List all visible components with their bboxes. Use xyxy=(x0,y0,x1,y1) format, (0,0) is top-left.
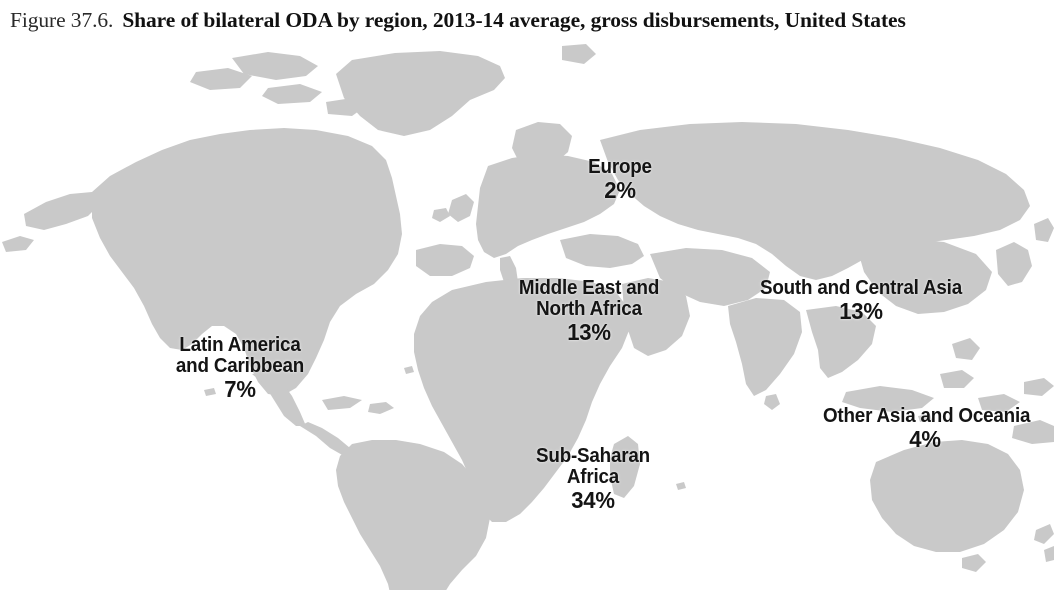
figure-number: Figure 37.6. xyxy=(10,8,113,32)
region-value-latin-america-caribbean: 7% xyxy=(125,378,355,402)
region-name-other-asia-oceania: Other Asia and Oceania xyxy=(823,406,1054,427)
region-label-sub-saharan-africa: Sub-Saharan Africa 34% xyxy=(468,446,718,513)
figure-container: Figure 37.6.Share of bilateral ODA by re… xyxy=(0,0,1054,590)
region-value-other-asia-oceania: 4% xyxy=(818,428,1031,452)
region-value-middle-east-north-africa: 13% xyxy=(459,321,718,345)
region-label-europe: Europe 2% xyxy=(520,157,720,203)
world-map: Europe 2% Middle East and North Africa 1… xyxy=(0,44,1054,590)
region-name-middle-east-north-africa: Middle East and North Africa xyxy=(462,278,716,320)
region-value-europe: 2% xyxy=(524,179,716,203)
region-value-south-central-asia: 13% xyxy=(722,300,1000,324)
figure-caption: Share of bilateral ODA by region, 2013-1… xyxy=(122,8,905,32)
region-name-latin-america-caribbean: Latin America and Caribbean xyxy=(127,335,353,377)
region-name-europe: Europe xyxy=(526,157,714,178)
region-label-latin-america-caribbean: Latin America and Caribbean 7% xyxy=(120,335,360,402)
region-label-south-central-asia: South and Central Asia 13% xyxy=(716,278,1006,324)
region-name-sub-saharan-africa: Sub-Saharan Africa xyxy=(476,446,711,488)
region-label-middle-east-north-africa: Middle East and North Africa 13% xyxy=(454,278,724,345)
region-value-sub-saharan-africa: 34% xyxy=(473,489,713,513)
region-name-south-central-asia: South and Central Asia xyxy=(725,278,998,299)
region-label-other-asia-oceania: Other Asia and Oceania 4% xyxy=(814,406,1054,452)
figure-title: Figure 37.6.Share of bilateral ODA by re… xyxy=(10,8,1054,42)
